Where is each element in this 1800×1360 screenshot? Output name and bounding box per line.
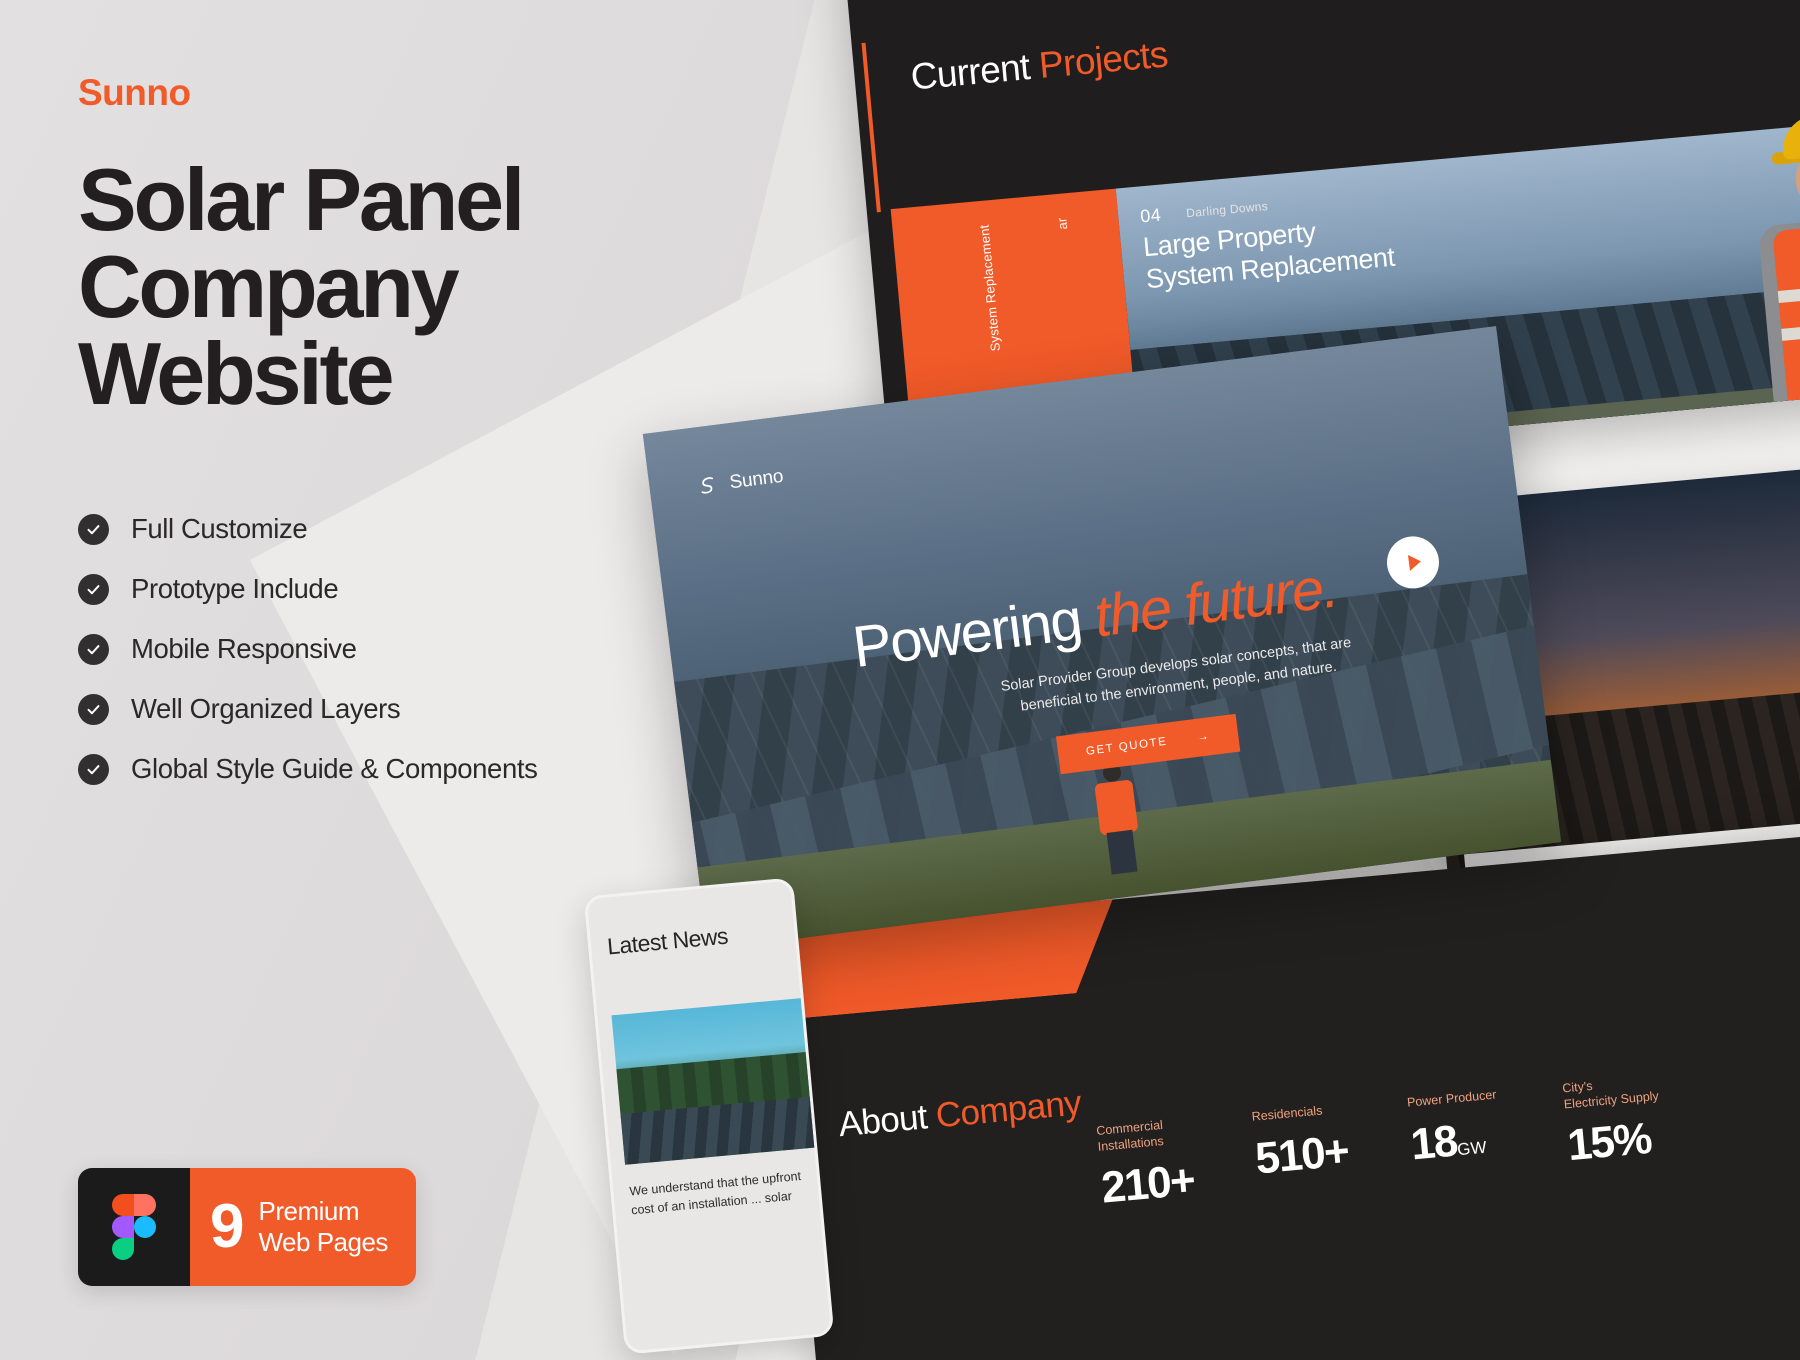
- page-title: Solar Panel Company Website: [78, 156, 698, 417]
- figma-logo-icon: [78, 1168, 190, 1286]
- feature-label: Mobile Responsive: [131, 633, 357, 665]
- projects-paragraph: Having ... within 5 years of operations …: [1476, 0, 1800, 3]
- accent-bar: [862, 43, 881, 213]
- list-item: Mobile Responsive: [78, 633, 698, 665]
- list-item: Full Customize: [78, 513, 698, 545]
- feature-label: Full Customize: [131, 513, 307, 545]
- list-item: Global Style Guide & Components: [78, 753, 698, 785]
- poster-canvas: Current Projects Having ... within 5 yea…: [0, 0, 1800, 1360]
- pages-count: 9: [210, 1196, 242, 1258]
- stat-value: 18GW: [1409, 1113, 1523, 1167]
- get-quote-label: GET QUOTE: [1085, 736, 1168, 758]
- list-item: Well Organized Layers: [78, 693, 698, 725]
- stat-commercial-installations: Commercial Installations 210+: [1096, 1114, 1213, 1211]
- stat-power-producer: Power Producer 18GW: [1406, 1086, 1523, 1183]
- check-circle-icon: [78, 514, 109, 545]
- vertical-label-secondary: ar: [1054, 217, 1070, 230]
- stat-number: 510+: [1253, 1126, 1350, 1183]
- stat-value: 510+: [1254, 1127, 1368, 1181]
- about-heading-white: About: [837, 1097, 929, 1144]
- list-item: Prototype Include: [78, 573, 698, 605]
- stat-label: Residencials: [1251, 1100, 1362, 1126]
- stat-value: 210+: [1100, 1157, 1214, 1211]
- pages-text-line-2: Web Pages: [258, 1227, 387, 1258]
- projects-heading-white: Current: [909, 46, 1031, 98]
- figma-pages-badge: 9 Premium Web Pages: [78, 1168, 416, 1286]
- left-info-panel: Sunno Solar Panel Company Website Full C…: [78, 72, 698, 813]
- feature-label: Well Organized Layers: [131, 693, 400, 725]
- mobile-page-title: Latest News: [606, 923, 729, 961]
- check-circle-icon: [78, 574, 109, 605]
- stat-number: 18: [1409, 1116, 1459, 1169]
- page-title-line-1: Solar Panel: [78, 156, 698, 243]
- projects-heading-accent: Projects: [1037, 33, 1169, 86]
- stat-label: Commercial Installations: [1096, 1114, 1208, 1155]
- arrow-right-icon: →: [1196, 730, 1211, 744]
- page-title-line-3: Website: [78, 330, 698, 417]
- page-title-line-2: Company: [78, 243, 698, 330]
- pages-text: Premium Web Pages: [258, 1196, 387, 1257]
- projects-heading: Current Projects: [909, 33, 1169, 98]
- feature-list: Full Customize Prototype Include Mobile …: [78, 513, 698, 785]
- stat-city-electricity-supply: City's Electricity Supply 15%: [1562, 1072, 1679, 1169]
- check-circle-icon: [78, 694, 109, 725]
- feature-label: Global Style Guide & Components: [131, 753, 537, 785]
- about-heading-accent: Company: [934, 1083, 1083, 1135]
- mobile-article-body: We understand that the upfront cost of a…: [629, 1166, 812, 1220]
- sunno-mark-icon: [694, 473, 720, 499]
- check-circle-icon: [78, 754, 109, 785]
- pages-count-block: 9 Premium Web Pages: [190, 1168, 416, 1286]
- project-card-number: 04: [1139, 205, 1162, 228]
- mockup-mobile-latest-news: Latest News We understand that the upfro…: [584, 877, 835, 1354]
- mobile-article-photo: [611, 994, 834, 1165]
- check-circle-icon: [78, 634, 109, 665]
- pages-text-line-1: Premium: [258, 1196, 387, 1227]
- about-stats-row: Commercial Installations 210+ Residencia…: [1096, 1072, 1680, 1211]
- stat-number: 210+: [1099, 1156, 1196, 1213]
- about-heading: About Company: [837, 1083, 1083, 1145]
- stat-label: City's Electricity Supply: [1562, 1072, 1674, 1113]
- stat-value: 15%: [1566, 1115, 1680, 1169]
- feature-label: Prototype Include: [131, 573, 338, 605]
- brand-logo-text: Sunno: [78, 72, 698, 114]
- mockup-hero-page: ph +32 423 423 CONTACT US Sunno Powering…: [643, 326, 1561, 950]
- stat-residencials: Residencials 510+: [1251, 1100, 1368, 1197]
- stat-number: 15%: [1565, 1114, 1652, 1170]
- stat-label: Power Producer: [1406, 1086, 1517, 1112]
- stat-unit: GW: [1456, 1137, 1487, 1159]
